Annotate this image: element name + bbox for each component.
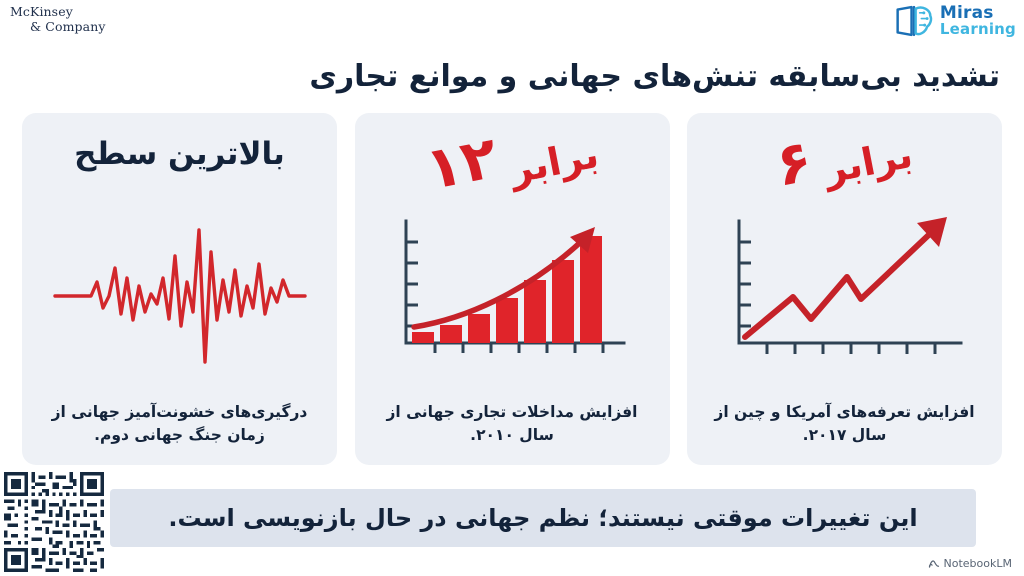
notebooklm-watermark: NotebookLM: [928, 557, 1012, 570]
card-tariffs-caption: افزایش تعرفه‌های آمریکا و چین از سال ۲۰۱…: [701, 401, 988, 448]
card-highest-level-caption: درگیری‌های خشونت‌آمیز جهانی از زمان جنگ …: [36, 401, 323, 448]
card-trade-interventions: برابر ۱۲: [355, 113, 670, 465]
card-tariffs-number: ۶: [771, 134, 816, 192]
card-trade-interventions-caption: افزایش مداخلات تجاری جهانی از سال ۲۰۱۰.: [369, 401, 656, 448]
bar-chart-rising-icon: [388, 215, 636, 367]
card-trade-interventions-heading: برابر ۱۲: [355, 137, 670, 189]
card-highest-level: بالاترین سطح درگیری‌های خشونت‌آمیز جهانی…: [22, 113, 337, 465]
card-highest-level-heading: بالاترین سطح: [22, 137, 337, 171]
card-trade-interventions-art: [355, 211, 670, 371]
seismograph-waveform-icon: [49, 216, 311, 366]
qr-code-icon[interactable]: [4, 472, 104, 572]
book-brain-icon: [894, 3, 934, 39]
notebooklm-icon: [928, 558, 940, 570]
mckinsey-logo-line1: McKinsey: [10, 4, 73, 19]
mckinsey-logo: McKinsey & Company: [10, 5, 106, 35]
mckinsey-logo-line2: & Company: [10, 20, 106, 35]
notebooklm-label: NotebookLM: [944, 557, 1012, 570]
bottom-banner: این تغییرات موقتی نیستند؛ نظم جهانی در ح…: [110, 489, 976, 547]
card-tariffs: برابر ۶: [687, 113, 1002, 465]
slide-canvas: McKinsey & Company Miras Learning تشدید …: [0, 0, 1024, 576]
page-title: تشدید بی‌سابقه تنش‌های جهانی و موانع تجا…: [240, 58, 1000, 96]
bottom-banner-text: این تغییرات موقتی نیستند؛ نظم جهانی در ح…: [168, 504, 917, 533]
miras-learning-logo: Miras Learning: [894, 3, 1016, 39]
card-trade-interventions-number: ۱۲: [421, 131, 500, 196]
miras-logo-line2: Learning: [940, 22, 1016, 37]
card-tariffs-art: [687, 211, 1002, 371]
qr-code-matrix: [4, 472, 104, 572]
card-trade-interventions-unit: برابر: [506, 134, 601, 192]
card-highest-level-art: [22, 211, 337, 371]
miras-logo-wordmark: Miras Learning: [940, 5, 1016, 37]
cards-row: بالاترین سطح درگیری‌های خشونت‌آمیز جهانی…: [22, 113, 1002, 465]
card-tariffs-unit: برابر: [821, 134, 916, 192]
line-chart-rising-icon: [721, 215, 969, 367]
card-tariffs-heading: برابر ۶: [687, 137, 1002, 189]
